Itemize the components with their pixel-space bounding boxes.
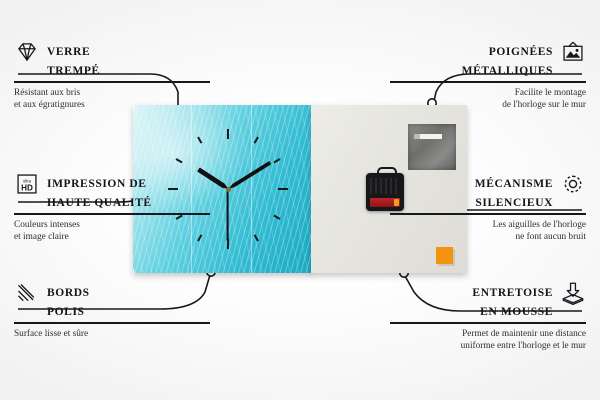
infographic-canvas: VERRE TREMPÉ Résistant aux bris et aux é…: [0, 0, 600, 400]
svg-text:HD: HD: [21, 184, 33, 193]
metal-hanger-plate: [408, 124, 456, 170]
callout-title-line2: POLIS: [47, 305, 210, 319]
callout-title: MÉCANISME: [475, 177, 553, 191]
callout-rule: [14, 213, 210, 215]
callout-mecanisme-silencieux: MÉCANISME SILENCIEUX Les aiguilles de l'…: [390, 172, 586, 243]
callout-poignees-metalliques: POIGNÉES MÉTALLIQUES Facilite le montage…: [390, 40, 586, 111]
callout-title: IMPRESSION DE: [47, 177, 147, 191]
callout-sub-1: Couleurs intenses: [14, 219, 210, 231]
hanger-slot: [420, 134, 442, 139]
callout-title: BORDS: [47, 286, 90, 300]
callout-title: POIGNÉES: [489, 45, 553, 59]
callout-sub-1: Surface lisse et sûre: [14, 328, 210, 340]
callout-sub-1: Les aiguilles de l'horloge: [390, 219, 586, 231]
callout-title-line2: EN MOUSSE: [390, 305, 553, 319]
callout-sub-1: Résistant aux bris: [14, 87, 210, 99]
framed-picture-hanging-icon: [560, 40, 586, 64]
callout-title: ENTRETOISE: [472, 286, 553, 300]
callout-sub-2: et image claire: [14, 231, 210, 243]
callout-rule: [390, 81, 586, 83]
callout-rule: [390, 322, 586, 324]
gear-icon: [560, 172, 586, 196]
callout-rule: [14, 322, 210, 324]
callout-sub-1: Permet de maintenir une distance: [390, 328, 586, 340]
callout-entretoise-en-mousse: ENTRETOISE EN MOUSSE Permet de maintenir…: [390, 281, 586, 352]
clock-second-hand: [227, 189, 229, 241]
clock-center-cap: [226, 187, 231, 192]
callout-bords-polis: BORDS POLIS Surface lisse et sûre: [14, 281, 210, 340]
polished-edges-icon: [14, 281, 40, 305]
callout-sub-1: Facilite le montage: [390, 87, 586, 99]
callout-rule: [390, 213, 586, 215]
callout-title-line2: MÉTALLIQUES: [390, 64, 553, 78]
callout-sub-2: de l'horloge sur le mur: [390, 99, 586, 111]
callout-verre-trempe: VERRE TREMPÉ Résistant aux bris et aux é…: [14, 40, 210, 111]
callout-title-line2: TREMPÉ: [47, 64, 210, 78]
diamond-icon: [14, 40, 40, 64]
arrow-down-onto-pad-icon: [560, 281, 586, 305]
callout-impression-haute-qualite: ultra HD IMPRESSION DE HAUTE QUALITÉ Cou…: [14, 172, 210, 243]
callout-title: VERRE: [47, 45, 90, 59]
callout-sub-2: ne font aucun bruit: [390, 231, 586, 243]
callout-title-line2: SILENCIEUX: [390, 196, 553, 210]
callout-rule: [14, 81, 210, 83]
ultra-hd-icon: ultra HD: [14, 172, 40, 196]
svg-text:ultra: ultra: [23, 178, 32, 183]
callout-sub-2: et aux égratignures: [14, 99, 210, 111]
callout-sub-2: uniforme entre l'horloge et le mur: [390, 340, 586, 352]
orange-foam-spacer: [436, 247, 453, 264]
callout-title-line2: HAUTE QUALITÉ: [47, 196, 210, 210]
